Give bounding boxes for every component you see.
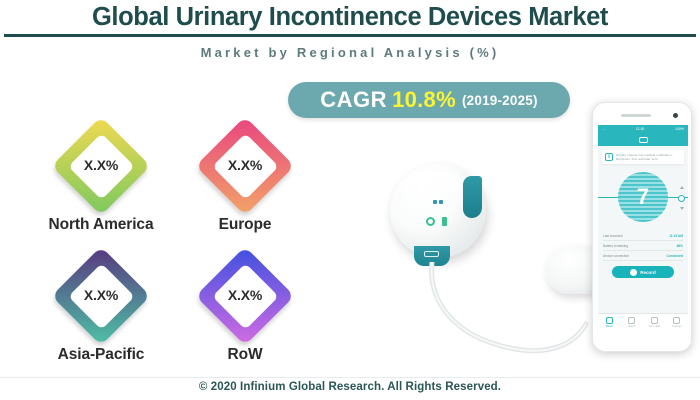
status-time: 12:30 <box>636 125 645 133</box>
region-label: North America <box>26 216 176 234</box>
product-illustration: ... 12:30 100% i Urinary volume low medi… <box>380 96 700 378</box>
region-north-america: X.X% North America <box>26 118 176 234</box>
region-label: Europe <box>170 216 320 234</box>
record-icon <box>630 269 637 276</box>
tab-label: Status <box>606 325 613 328</box>
record-button[interactable]: Record <box>612 266 674 278</box>
cagr-value: 10.8% <box>392 87 456 113</box>
status-signal: ... <box>602 125 605 133</box>
sphere-teal-accent <box>463 176 482 218</box>
tab-history[interactable]: History <box>621 314 644 331</box>
cagr-badge: CAGR 10.8% (2019-2025) <box>288 82 570 118</box>
info-icon: i <box>605 153 613 161</box>
tab-sync-data[interactable]: Sync data <box>643 314 666 331</box>
sphere-indicator-dots-icon <box>433 200 445 204</box>
app-toolbar <box>598 133 688 146</box>
chevron-up-icon[interactable] <box>680 186 684 189</box>
region-value: X.X% <box>53 287 149 303</box>
status-battery: 100% <box>675 125 684 133</box>
region-value: X.X% <box>53 157 149 173</box>
gauge-slider[interactable] <box>678 186 685 210</box>
data-value: Connected <box>667 254 683 258</box>
cagr-period: (2019-2025) <box>462 93 538 108</box>
tab-settings[interactable]: Settings <box>666 314 689 331</box>
region-label: Asia-Pacific <box>26 346 176 364</box>
app-logo-icon <box>639 137 648 143</box>
phone-camera-icon <box>673 113 678 118</box>
tab-label: Settings <box>672 325 681 328</box>
diamond-europe: X.X% <box>197 118 293 214</box>
app-status-bar: ... 12:30 100% <box>598 125 688 133</box>
region-row: X.X% RoW <box>170 248 320 364</box>
data-key: Device connection <box>603 254 629 258</box>
gauge-circle: 7 <box>618 172 668 222</box>
page-title: Global Urinary Incontinence Devices Mark… <box>0 0 700 32</box>
page-subtitle: Market by Regional Analysis (%) <box>0 37 700 66</box>
gauge-value: 7 <box>637 186 649 208</box>
sphere-power-icon <box>426 217 435 226</box>
phone-speaker <box>621 114 651 117</box>
region-grid: X.X% North America X.X% Europe X.X% Asia… <box>12 118 312 368</box>
connector-slot-icon <box>424 251 439 257</box>
region-europe: X.X% Europe <box>170 118 320 234</box>
tab-label: History <box>628 325 636 328</box>
status-tab-icon <box>606 317 613 324</box>
data-key: Last recorded <box>603 234 623 238</box>
cagr-label: CAGR <box>320 87 387 113</box>
data-value: 88% <box>677 244 683 248</box>
list-item: Device connection Connected <box>603 251 683 261</box>
header: Global Urinary Incontinence Devices Mark… <box>0 0 700 66</box>
diamond-row: X.X% <box>197 248 293 344</box>
app-gauge: 7 <box>598 166 688 228</box>
diamond-asia-pacific: X.X% <box>53 248 149 344</box>
app-info-banner: i Urinary volume low medical notificatio… <box>602 150 684 164</box>
list-item: Battery remaining 88% <box>603 241 683 251</box>
app-data-list: Last recorded 11:15 AM Battery remaining… <box>603 231 683 261</box>
phone-screen: ... 12:30 100% i Urinary volume low medi… <box>598 125 688 331</box>
sphere-highlight <box>404 171 462 197</box>
sync-tab-icon <box>651 317 658 324</box>
region-value: X.X% <box>197 157 293 173</box>
app-tab-bar: Status History Sync data Settings <box>598 313 688 331</box>
diamond-north-america: X.X% <box>53 118 149 214</box>
info-banner-text: Urinary volume low medical notification.… <box>616 153 681 161</box>
region-asia-pacific: X.X% Asia-Pacific <box>26 248 176 364</box>
footer-copyright: © 2020 Infinium Global Research. All Rig… <box>0 381 700 393</box>
list-item: Last recorded 11:15 AM <box>603 231 683 241</box>
infographic-page: Global Urinary Incontinence Devices Mark… <box>0 0 700 400</box>
tab-label: Sync data <box>648 325 660 328</box>
region-label: RoW <box>170 346 320 364</box>
sphere-device-icon <box>390 164 486 258</box>
slider-knob[interactable] <box>678 195 685 202</box>
region-value: X.X% <box>197 287 293 303</box>
phone-mockup: ... 12:30 100% i Urinary volume low medi… <box>592 102 692 352</box>
tab-status[interactable]: Status <box>598 314 621 331</box>
record-button-label: Record <box>640 270 656 275</box>
gear-icon <box>673 317 680 324</box>
chevron-down-icon[interactable] <box>680 207 684 210</box>
data-key: Battery remaining <box>603 244 628 248</box>
history-tab-icon <box>628 317 635 324</box>
sphere-battery-icon <box>442 217 447 226</box>
footer-divider <box>0 377 700 378</box>
data-value: 11:15 AM <box>669 234 683 238</box>
